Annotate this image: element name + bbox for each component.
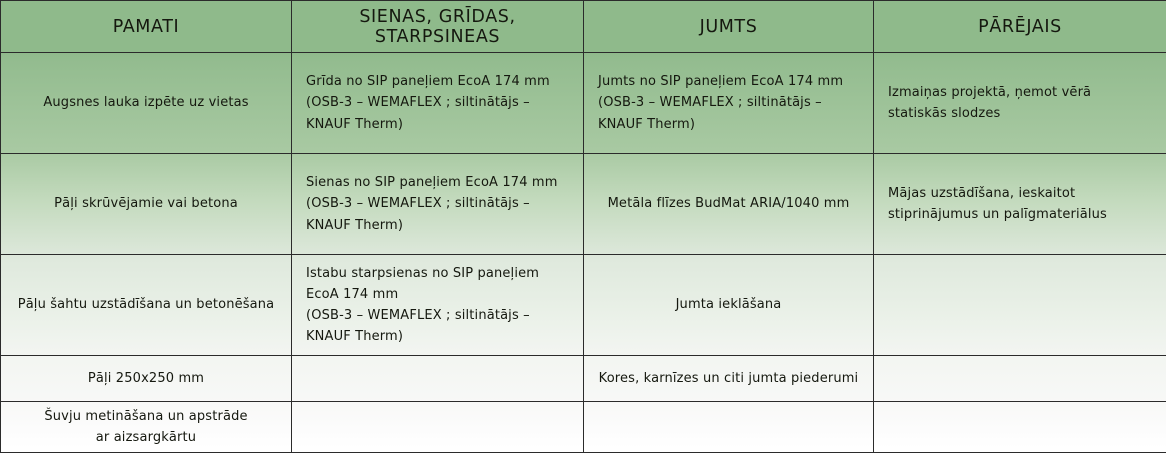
cell-text-line: Grīda no SIP paneļiem EcoA 174 mm: [306, 71, 569, 92]
cell-text-line: (OSB-3 – WEMAFLEX ; siltinātājs –: [306, 305, 569, 326]
cell-text-line: (OSB-3 – WEMAFLEX ; siltinātājs –: [306, 92, 569, 113]
cell-text-line: KNAUF Therm): [598, 114, 859, 135]
cell-pamati-5: Šuvju metināšana un apstrāde ar aizsargk…: [1, 402, 292, 453]
cell-text-line: statiskās slodzes: [888, 103, 1152, 124]
cell-text-line: stiprinājumus un palīgmateriālus: [888, 204, 1152, 225]
cell-text: Jumta ieklāšana: [598, 294, 859, 315]
cell-sienas-2: Sienas no SIP paneļiem EcoA 174 mm (OSB-…: [292, 154, 584, 255]
cell-parejais-3: [874, 255, 1166, 356]
cell-text-line: Istabu starpsienas no SIP paneļiem: [306, 263, 569, 284]
cell-pamati-3: Pāļu šahtu uzstādīšana un betonēšana: [1, 255, 292, 356]
cell-text: Augsnes lauka izpēte uz vietas: [15, 92, 277, 113]
cell-text: Pāļi skrūvējamie vai betona: [15, 193, 277, 214]
table-body: Augsnes lauka izpēte uz vietas Grīda no …: [1, 53, 1166, 453]
table-header: PAMATI SIENAS, GRĪDAS, STARPSINEAS JUMTS…: [1, 1, 1166, 53]
cell-text-line: KNAUF Therm): [306, 215, 569, 236]
materials-table-container: PAMATI SIENAS, GRĪDAS, STARPSINEAS JUMTS…: [0, 0, 1166, 448]
cell-pamati-2: Pāļi skrūvējamie vai betona: [1, 154, 292, 255]
cell-jumts-5: [584, 402, 874, 453]
construction-materials-table: PAMATI SIENAS, GRĪDAS, STARPSINEAS JUMTS…: [0, 0, 1166, 453]
cell-text-line: ar aizsargkārtu: [15, 427, 277, 448]
table-row: Pāļu šahtu uzstādīšana un betonēšana Ist…: [1, 255, 1166, 356]
table-row: Pāļi skrūvējamie vai betona Sienas no SI…: [1, 154, 1166, 255]
cell-parejais-1: Izmaiņas projektā, ņemot vērā statiskās …: [874, 53, 1166, 154]
cell-text-line: Izmaiņas projektā, ņemot vērā: [888, 82, 1152, 103]
cell-parejais-5: [874, 402, 1166, 453]
cell-text-line: (OSB-3 – WEMAFLEX ; siltinātājs –: [306, 193, 569, 214]
cell-text-line: KNAUF Therm): [306, 326, 569, 347]
cell-sienas-5: [292, 402, 584, 453]
cell-text-line: EcoA 174 mm: [306, 284, 569, 305]
cell-text-line: Sienas no SIP paneļiem EcoA 174 mm: [306, 172, 569, 193]
cell-text-line: Šuvju metināšana un apstrāde: [15, 406, 277, 427]
cell-text-line: (OSB-3 – WEMAFLEX ; siltinātājs –: [598, 92, 859, 113]
cell-parejais-4: [874, 356, 1166, 402]
cell-text: Metāla flīzes BudMat ARIA/1040 mm: [598, 193, 859, 214]
cell-pamati-1: Augsnes lauka izpēte uz vietas: [1, 53, 292, 154]
column-header-parejais: PĀRĒJAIS: [874, 1, 1166, 53]
table-row: Šuvju metināšana un apstrāde ar aizsargk…: [1, 402, 1166, 453]
column-header-sienas: SIENAS, GRĪDAS, STARPSINEAS: [292, 1, 584, 53]
cell-jumts-3: Jumta ieklāšana: [584, 255, 874, 356]
cell-jumts-4: Kores, karnīzes un citi jumta piederumi: [584, 356, 874, 402]
cell-sienas-1: Grīda no SIP paneļiem EcoA 174 mm (OSB-3…: [292, 53, 584, 154]
cell-text-line: KNAUF Therm): [306, 114, 569, 135]
cell-text: Kores, karnīzes un citi jumta piederumi: [598, 368, 859, 389]
cell-text-line: Mājas uzstādīšana, ieskaitot: [888, 183, 1152, 204]
cell-text-line: Jumts no SIP paneļiem EcoA 174 mm: [598, 71, 859, 92]
table-row: Augsnes lauka izpēte uz vietas Grīda no …: [1, 53, 1166, 154]
column-header-jumts: JUMTS: [584, 1, 874, 53]
table-row: Pāļi 250x250 mm Kores, karnīzes un citi …: [1, 356, 1166, 402]
column-header-pamati: PAMATI: [1, 1, 292, 53]
header-row: PAMATI SIENAS, GRĪDAS, STARPSINEAS JUMTS…: [1, 1, 1166, 53]
cell-sienas-3: Istabu starpsienas no SIP paneļiem EcoA …: [292, 255, 584, 356]
cell-jumts-2: Metāla flīzes BudMat ARIA/1040 mm: [584, 154, 874, 255]
cell-text: Pāļu šahtu uzstādīšana un betonēšana: [15, 294, 277, 315]
cell-pamati-4: Pāļi 250x250 mm: [1, 356, 292, 402]
cell-parejais-2: Mājas uzstādīšana, ieskaitot stiprinājum…: [874, 154, 1166, 255]
cell-jumts-1: Jumts no SIP paneļiem EcoA 174 mm (OSB-3…: [584, 53, 874, 154]
cell-text: Pāļi 250x250 mm: [15, 368, 277, 389]
cell-sienas-4: [292, 356, 584, 402]
